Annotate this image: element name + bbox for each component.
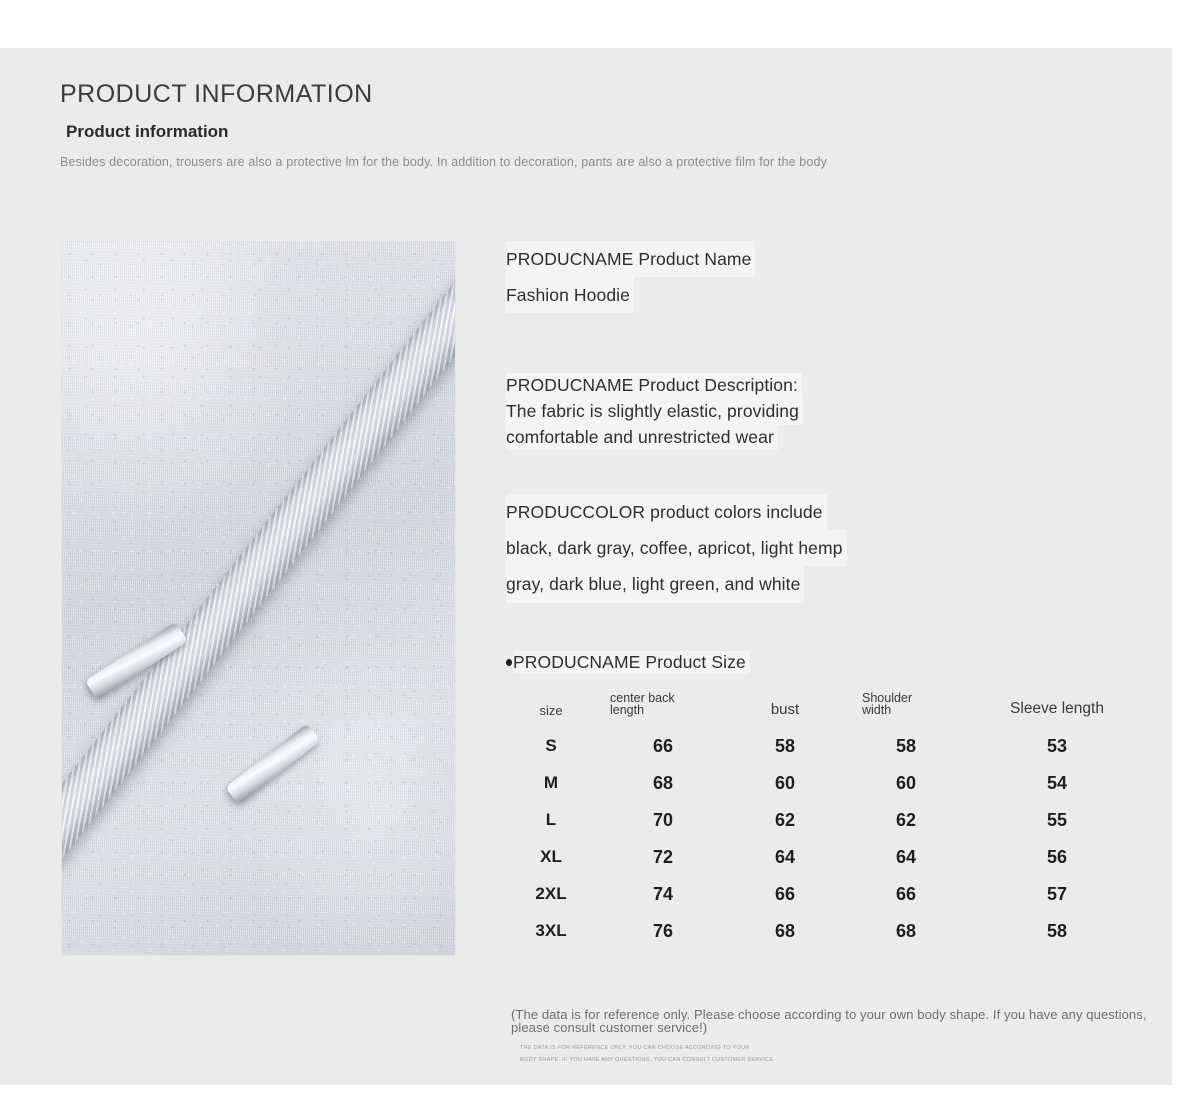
column-header-center-back-length: center back length bbox=[596, 692, 730, 728]
cell-size: XL bbox=[506, 838, 596, 875]
cell-center-back-length: 74 bbox=[596, 875, 730, 912]
cell-sleeve-length: 57 bbox=[972, 875, 1142, 912]
size-chart-header-row: size center back length bust Shoulder wi… bbox=[506, 692, 1142, 728]
cell-bust: 60 bbox=[730, 764, 840, 801]
product-description-line-1: The fabric is slightly elastic, providin… bbox=[506, 399, 1156, 425]
disclaimer-main-text: (The data is for reference only. Please … bbox=[511, 1008, 1159, 1035]
size-chart-table: size center back length bust Shoulder wi… bbox=[506, 692, 1142, 950]
table-row: S66585853 bbox=[506, 727, 1142, 764]
product-colors-line-1: black, dark gray, coffee, apricot, light… bbox=[506, 530, 1156, 566]
table-row: 3XL76686858 bbox=[506, 912, 1142, 949]
cell-sleeve-length: 55 bbox=[972, 801, 1142, 838]
cell-size: 2XL bbox=[506, 875, 596, 912]
table-row: L70626255 bbox=[506, 801, 1142, 838]
cell-center-back-length: 70 bbox=[596, 801, 730, 838]
cell-size: L bbox=[506, 801, 596, 838]
header-zone: PRODUCT INFORMATION Product information … bbox=[60, 81, 1060, 171]
cell-shoulder-width: 62 bbox=[840, 801, 972, 838]
cell-size: S bbox=[506, 727, 596, 764]
cell-bust: 58 bbox=[730, 727, 840, 764]
column-header-shoulder-width-line-2: width bbox=[862, 703, 891, 717]
cell-shoulder-width: 58 bbox=[840, 727, 972, 764]
cell-shoulder-width: 66 bbox=[840, 875, 972, 912]
column-header-center-back-length-line-2: length bbox=[610, 703, 644, 717]
disclaimer-small-line-1: THE DATA IS FOR REFERENCE ONLY, YOU CAN … bbox=[520, 1042, 1159, 1054]
product-colors-label: PRODUCCOLOR product colors include bbox=[506, 494, 1156, 530]
product-photo bbox=[61, 241, 456, 956]
product-size-heading: PRODUCNAME Product Size bbox=[506, 651, 1156, 674]
intro-paragraph: Besides decoration, trousers are also a … bbox=[60, 153, 915, 171]
cell-size: 3XL bbox=[506, 912, 596, 949]
cell-center-back-length: 68 bbox=[596, 764, 730, 801]
cell-center-back-length: 76 bbox=[596, 912, 730, 949]
product-size-label: PRODUCNAME Product Size bbox=[513, 651, 750, 674]
cell-sleeve-length: 53 bbox=[972, 727, 1142, 764]
cell-center-back-length: 72 bbox=[596, 838, 730, 875]
bullet-icon bbox=[506, 659, 512, 666]
section-subtitle: Product information bbox=[66, 123, 1060, 142]
table-row: M68606054 bbox=[506, 764, 1142, 801]
product-information-panel: PRODUCT INFORMATION Product information … bbox=[0, 48, 1172, 1085]
column-header-sleeve-length: Sleeve length bbox=[972, 692, 1142, 728]
cell-shoulder-width: 64 bbox=[840, 838, 972, 875]
product-name-label: PRODUCNAME Product Name bbox=[506, 241, 1156, 277]
column-header-bust: bust bbox=[730, 692, 840, 728]
cell-sleeve-length: 54 bbox=[972, 764, 1142, 801]
column-header-size: size bbox=[506, 692, 596, 728]
product-description-label: PRODUCNAME Product Description: bbox=[506, 373, 1156, 399]
product-colors-line-2: gray, dark blue, light green, and white bbox=[506, 566, 1156, 602]
product-description-line-2: comfortable and unrestricted wear bbox=[506, 425, 1156, 451]
product-description-block: PRODUCNAME Product Description: The fabr… bbox=[506, 373, 1156, 450]
page-title: PRODUCT INFORMATION bbox=[60, 81, 1060, 109]
cell-bust: 64 bbox=[730, 838, 840, 875]
cell-size: M bbox=[506, 764, 596, 801]
product-name-value: Fashion Hoodie bbox=[506, 277, 1156, 313]
table-row: 2XL74666657 bbox=[506, 875, 1142, 912]
size-chart-disclaimer: (The data is for reference only. Please … bbox=[511, 1008, 1159, 1066]
cell-bust: 66 bbox=[730, 875, 840, 912]
size-chart-body: S66585853M68606054L70626255XL726464562XL… bbox=[506, 727, 1142, 949]
product-colors-block: PRODUCCOLOR product colors include black… bbox=[506, 494, 1156, 602]
cell-sleeve-length: 58 bbox=[972, 912, 1142, 949]
disclaimer-small-text: THE DATA IS FOR REFERENCE ONLY, YOU CAN … bbox=[520, 1042, 1159, 1067]
cell-bust: 62 bbox=[730, 801, 840, 838]
column-header-shoulder-width: Shoulder width bbox=[840, 692, 972, 728]
cell-sleeve-length: 56 bbox=[972, 838, 1142, 875]
cell-shoulder-width: 68 bbox=[840, 912, 972, 949]
cell-shoulder-width: 60 bbox=[840, 764, 972, 801]
cell-center-back-length: 66 bbox=[596, 727, 730, 764]
product-name-block: PRODUCNAME Product Name Fashion Hoodie bbox=[506, 241, 1156, 313]
cell-bust: 68 bbox=[730, 912, 840, 949]
table-row: XL72646456 bbox=[506, 838, 1142, 875]
size-chart-head: size center back length bust Shoulder wi… bbox=[506, 692, 1142, 728]
product-info-column: PRODUCNAME Product Name Fashion Hoodie P… bbox=[506, 241, 1156, 949]
disclaimer-small-line-2: BODY SHAPE, IF YOU HAVE ANY QUESTIONS, Y… bbox=[520, 1054, 1159, 1066]
